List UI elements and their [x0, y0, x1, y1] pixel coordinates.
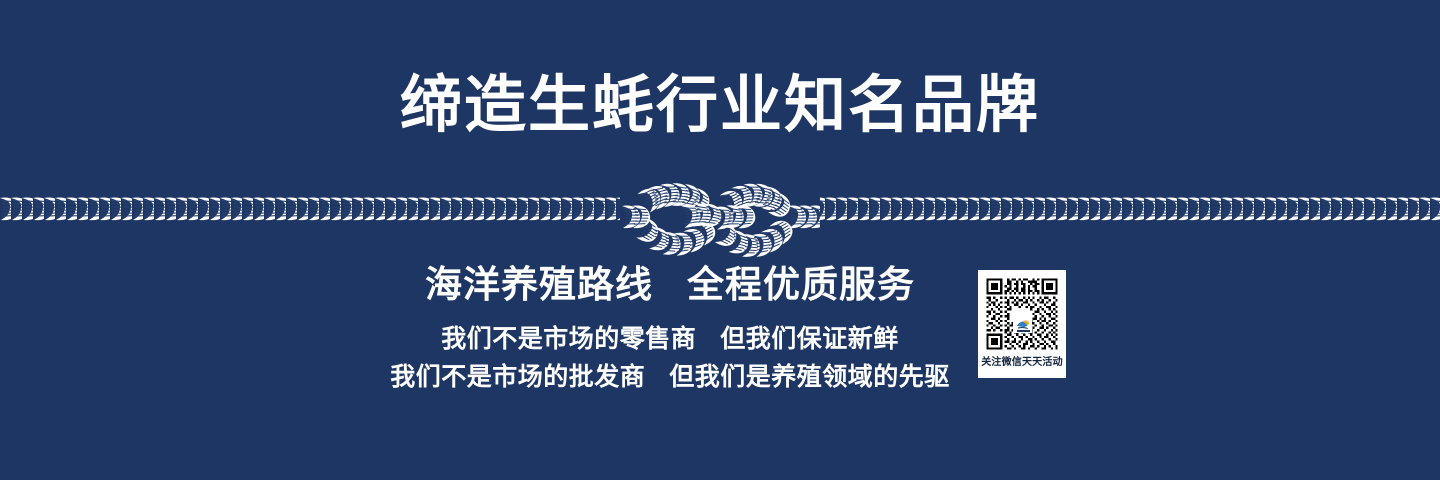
rope-knot-icon: [620, 174, 820, 258]
body-copy-line-2: 我们不是市场的批发商但我们是养殖领域的先驱: [0, 358, 1340, 396]
page-title: 缔造生蚝行业知名品牌: [0, 68, 1440, 144]
qr-caption: 关注微信天天活动: [978, 356, 1066, 370]
body-copy-line-1-right: 但我们保证新鲜: [720, 325, 899, 353]
body-copy: 我们不是市场的零售商但我们保证新鲜 我们不是市场的批发商但我们是养殖领域的先驱: [0, 320, 1440, 396]
rope-divider: [0, 176, 1440, 256]
qr-code-icon[interactable]: [984, 276, 1060, 352]
brand-logo-icon: [1013, 316, 1032, 333]
body-copy-line-2-right: 但我们是养殖领域的先驱: [669, 363, 950, 391]
promo-banner: 缔造生蚝行业知名品牌: [0, 0, 1440, 480]
qr-panel[interactable]: 关注微信天天活动: [978, 270, 1066, 378]
body-copy-line-1: 我们不是市场的零售商但我们保证新鲜: [0, 320, 1340, 358]
body-copy-line-2-left: 我们不是市场的批发商: [390, 363, 645, 391]
subtitle-segment-2: 全程优质服务: [687, 264, 915, 305]
body-copy-line-1-left: 我们不是市场的零售商: [441, 325, 696, 353]
subtitle-segment-1: 海洋养殖路线: [425, 264, 653, 305]
subtitle: 海洋养殖路线全程优质服务: [0, 262, 1440, 308]
